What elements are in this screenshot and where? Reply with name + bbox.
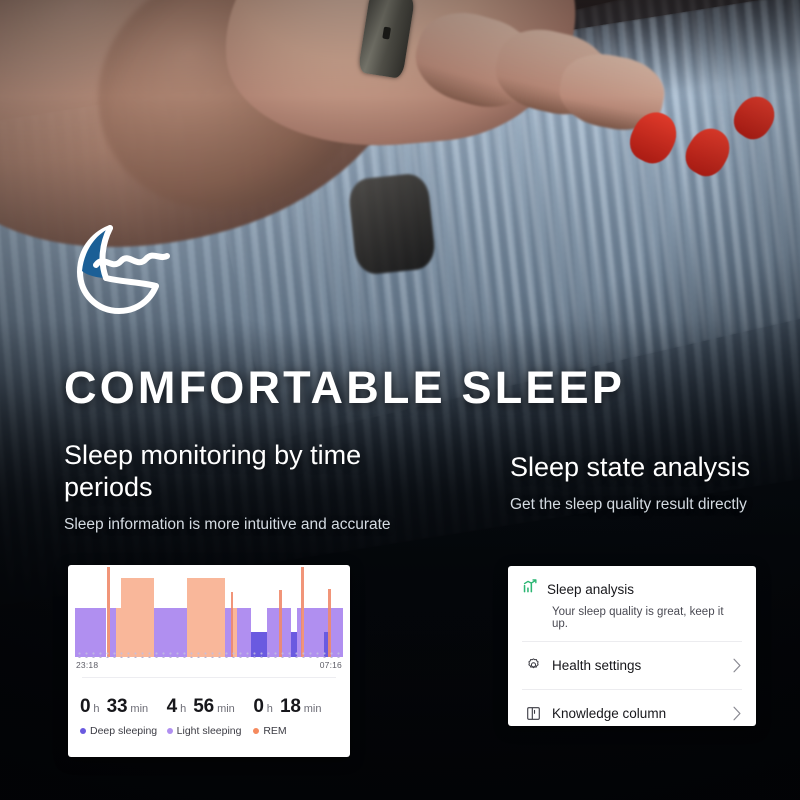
- left-column: Sleep monitoring by time periods Sleep i…: [64, 440, 434, 535]
- chart-bars: [68, 567, 350, 657]
- page-title: COMFORTABLE SLEEP: [64, 362, 625, 414]
- sleep-analysis-description: Your sleep quality is great, keep it up.: [552, 606, 742, 630]
- chart-bar-rem_spike: [279, 590, 281, 657]
- sleep-product-banner: COMFORTABLE SLEEP Sleep monitoring by ti…: [0, 0, 800, 800]
- left-subtitle: Sleep information is more intuitive and …: [64, 515, 434, 536]
- chart-start-time: 23:18: [76, 660, 98, 670]
- sleep-chart-card[interactable]: 23:18 07:16 0 h 33 minDeep sleeping4 h 5…: [68, 565, 350, 757]
- chart-axis-dotted-line: [76, 656, 342, 658]
- health-settings-label: Health settings: [552, 658, 641, 673]
- chart-tick-dots: [76, 651, 342, 655]
- chart-bar-rem: [187, 578, 225, 657]
- chart-growth-icon: [522, 578, 539, 600]
- sleep-analysis-card[interactable]: Sleep analysis Your sleep quality is gre…: [508, 566, 756, 726]
- legend-dot: [80, 728, 86, 734]
- chart-bar-light: [75, 608, 106, 658]
- health-settings-row[interactable]: Health settings: [508, 642, 756, 689]
- left-heading: Sleep monitoring by time periods: [64, 440, 434, 504]
- sleep-stat-value: 0 h 18 min: [253, 696, 340, 718]
- right-heading: Sleep state analysis: [510, 452, 780, 484]
- sleep-analysis-row[interactable]: Sleep analysis Your sleep quality is gre…: [508, 566, 756, 641]
- banner-content: COMFORTABLE SLEEP Sleep monitoring by ti…: [0, 0, 800, 800]
- chart-end-time: 07:16: [320, 660, 342, 670]
- sleep-stat-label: Deep sleeping: [80, 725, 167, 737]
- legend-dot: [167, 728, 173, 734]
- crescent-moon-waves-icon: [66, 216, 178, 316]
- sleep-stats-row: 0 h 33 minDeep sleeping4 h 56 minLight s…: [68, 678, 350, 737]
- knowledge-column-label: Knowledge column: [552, 706, 666, 721]
- sleep-stat-label: Light sleeping: [167, 725, 254, 737]
- sleep-stat-label: REM: [253, 725, 340, 737]
- chart-bar-light: [237, 608, 251, 658]
- chart-bar-light: [331, 608, 343, 658]
- legend-dot: [253, 728, 259, 734]
- book-icon: [522, 705, 544, 722]
- chart-bar-light: [154, 608, 188, 658]
- right-subtitle: Get the sleep quality result directly: [510, 495, 780, 516]
- sleep-stat: 0 h 33 minDeep sleeping: [80, 696, 167, 737]
- sleep-stage-chart: 23:18 07:16: [68, 567, 350, 671]
- sleep-stat: 0 h 18 minREM: [253, 696, 340, 737]
- sleep-analysis-title: Sleep analysis: [547, 582, 634, 597]
- right-column: Sleep state analysis Get the sleep quali…: [510, 452, 780, 515]
- sleep-stat: 4 h 56 minLight sleeping: [167, 696, 254, 737]
- chevron-right-icon: [732, 658, 742, 673]
- chevron-right-icon: [732, 706, 742, 721]
- sleep-stat-value: 4 h 56 min: [167, 696, 254, 718]
- chart-bar-rem: [121, 578, 153, 657]
- sleep-stat-value: 0 h 33 min: [80, 696, 167, 718]
- gear-icon: [522, 657, 544, 674]
- knowledge-column-row[interactable]: Knowledge column: [508, 690, 756, 726]
